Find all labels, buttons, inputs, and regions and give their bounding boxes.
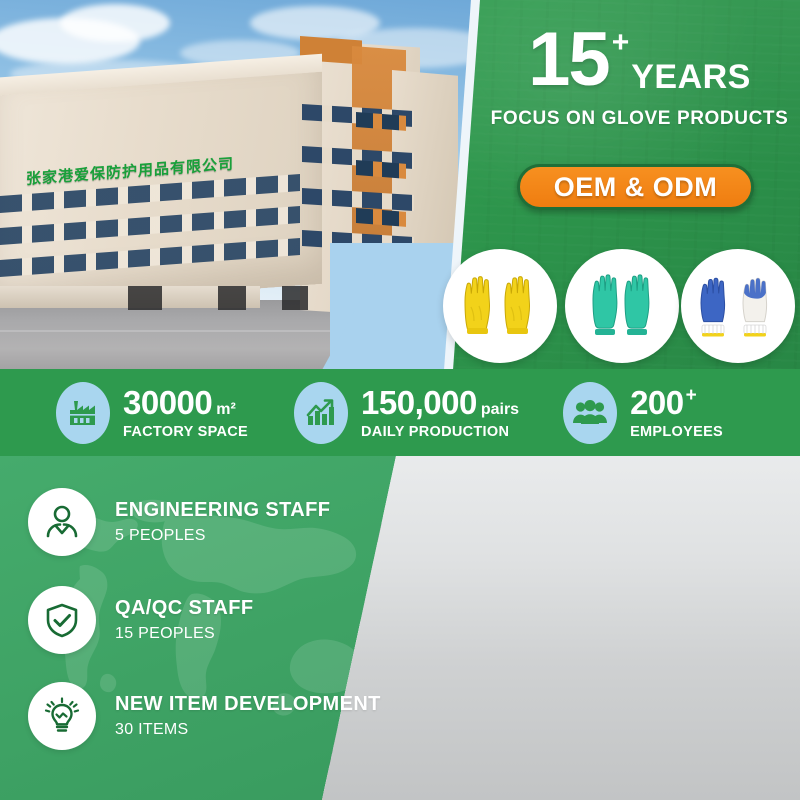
- product-circle-yellow-gloves[interactable]: [443, 249, 557, 363]
- person-icon-circle: [28, 488, 96, 556]
- team-row-new-item[interactable]: NEW ITEM DEVELOPMENT 30 ITEMS: [28, 682, 381, 750]
- team-rows: ENGINEERING STAFF 5 PEOPLES QA/QC STAFF …: [0, 456, 400, 800]
- people-group-icon-circle: [563, 382, 617, 444]
- growth-chart-icon: [304, 397, 338, 429]
- stat-value-row: 150,000 pairs: [361, 386, 519, 419]
- years-line: 15 + YEARS: [479, 22, 800, 98]
- stats-band: 30000 m² FACTORY SPACE: [0, 369, 800, 456]
- loading-door: [218, 286, 246, 310]
- team-row-subtitle: 5 PEOPLES: [115, 527, 330, 545]
- product-circle-green-gloves[interactable]: [565, 249, 679, 363]
- team-row-qaqc[interactable]: QA/QC STAFF 15 PEOPLES: [28, 586, 253, 654]
- stat-unit: pairs: [481, 402, 519, 418]
- oem-odm-badge[interactable]: OEM & ODM: [517, 164, 754, 210]
- people-group-icon: [572, 398, 608, 428]
- team-row-text: NEW ITEM DEVELOPMENT 30 ITEMS: [115, 693, 381, 739]
- stat-daily-production: 150,000 pairs DAILY PRODUCTION: [294, 382, 519, 444]
- stat-employees: 200 + EMPLOYEES: [563, 382, 723, 444]
- product-circle-blue-gloves[interactable]: [681, 249, 795, 363]
- hero-section: 张家港爱保防护用品有限公司 15 + YEARS FOCUS ON GLOVE …: [0, 0, 800, 370]
- team-row-title: QA/QC STAFF: [115, 597, 253, 620]
- loading-door: [128, 286, 162, 310]
- team-row-title: NEW ITEM DEVELOPMENT: [115, 693, 381, 716]
- shield-check-icon-circle: [28, 586, 96, 654]
- stat-label: DAILY PRODUCTION: [361, 424, 519, 440]
- oem-odm-label: OEM & ODM: [554, 172, 718, 203]
- yellow-latex-gloves-icon: [443, 249, 557, 363]
- blue-nitrile-gloves-icon: [681, 249, 795, 363]
- years-word: YEARS: [631, 60, 751, 98]
- shield-check-icon: [43, 601, 81, 639]
- years-number: 15: [528, 22, 609, 98]
- stat-unit: m²: [216, 402, 236, 418]
- stat-value-row: 200 +: [630, 386, 723, 419]
- years-headline: 15 + YEARS FOCUS ON GLOVE PRODUCTS: [479, 22, 800, 130]
- stat-plus-sign: +: [686, 386, 697, 405]
- team-row-text: QA/QC STAFF 15 PEOPLES: [115, 597, 253, 643]
- growth-chart-icon-circle: [294, 382, 348, 444]
- stat-value-row: 30000 m²: [123, 386, 248, 419]
- team-row-title: ENGINEERING STAFF: [115, 499, 330, 522]
- stat-factory-space: 30000 m² FACTORY SPACE: [56, 382, 248, 444]
- stat-employees-text: 200 + EMPLOYEES: [630, 386, 723, 440]
- stat-factory-text: 30000 m² FACTORY SPACE: [123, 386, 248, 440]
- person-icon: [43, 503, 81, 541]
- years-plus-sign: +: [612, 28, 630, 58]
- loading-door: [282, 286, 308, 310]
- hero-tagline: FOCUS ON GLOVE PRODUCTS: [479, 108, 800, 130]
- green-latex-gloves-icon: [565, 249, 679, 363]
- cloud: [60, 4, 170, 42]
- team-row-engineering[interactable]: ENGINEERING STAFF 5 PEOPLES: [28, 488, 330, 556]
- lightbulb-idea-icon: [42, 696, 82, 736]
- lightbulb-idea-icon-circle: [28, 682, 96, 750]
- stat-production-text: 150,000 pairs DAILY PRODUCTION: [361, 386, 519, 440]
- infographic-banner: 张家港爱保防护用品有限公司 15 + YEARS FOCUS ON GLOVE …: [0, 0, 800, 800]
- team-row-subtitle: 15 PEOPLES: [115, 625, 253, 643]
- stat-label: EMPLOYEES: [630, 424, 723, 440]
- factory-icon-circle: [56, 382, 110, 444]
- stat-value: 200: [630, 386, 684, 419]
- factory-icon: [66, 397, 100, 429]
- stat-value: 30000: [123, 386, 212, 419]
- stat-value: 150,000: [361, 386, 477, 419]
- team-row-text: ENGINEERING STAFF 5 PEOPLES: [115, 499, 330, 545]
- team-row-subtitle: 30 ITEMS: [115, 721, 381, 739]
- stat-label: FACTORY SPACE: [123, 424, 248, 440]
- team-section: ENGINEERING STAFF 5 PEOPLES QA/QC STAFF …: [0, 456, 800, 800]
